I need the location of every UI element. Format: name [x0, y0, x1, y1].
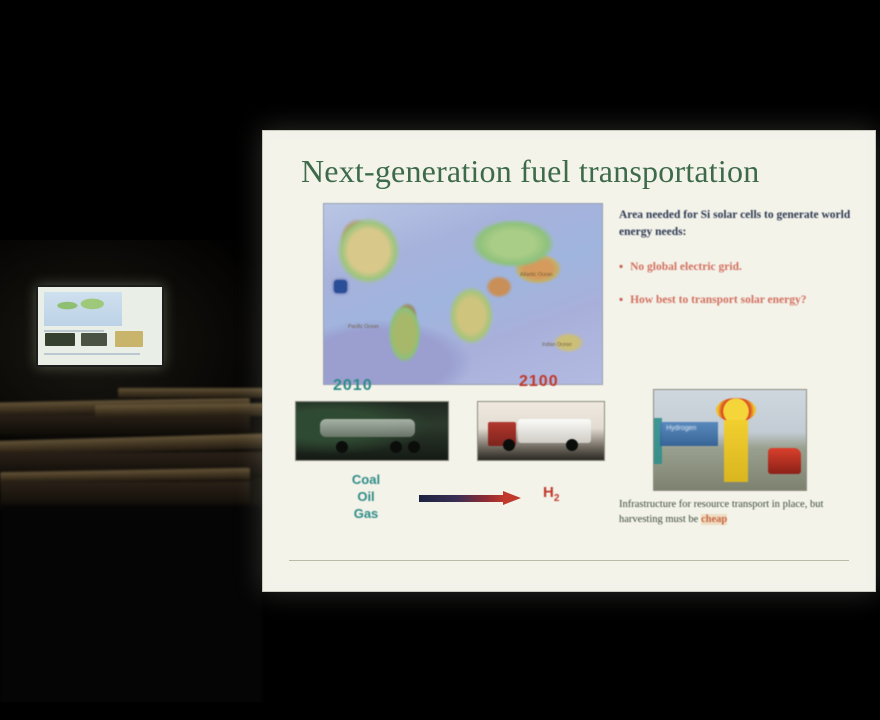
preview-monitor [36, 285, 164, 367]
slide-bullet: ▪ No global electric grid. [619, 259, 851, 276]
shell-logo-icon [716, 398, 756, 422]
projected-slide: Next-generation fuel transportation Paci… [262, 130, 876, 592]
photo-tanker-2010 [295, 401, 449, 461]
truck-wheel [566, 439, 578, 451]
tanker-wheel [390, 441, 402, 453]
slide-content: Next-generation fuel transportation Paci… [271, 139, 867, 583]
fuel-item-oil: Oil [329, 488, 403, 505]
hydrogen-symbol: H [543, 484, 554, 501]
fossil-fuels-list: Coal Oil Gas [329, 471, 403, 522]
slide-bullet-text: No global electric grid. [630, 259, 742, 276]
bullet-marker-icon: ▪ [619, 259, 623, 276]
slide-lead-text: Area needed for Si solar cells to genera… [619, 207, 851, 241]
monitor-mini-text-line [44, 353, 140, 355]
hall-floor [0, 505, 262, 705]
truck-trailer [518, 419, 591, 442]
arrow-head [503, 491, 521, 505]
slide-bullet-text: How best to transport solar energy? [630, 292, 806, 309]
station-caption: Infrastructure for resource transport in… [619, 497, 851, 527]
tanker-body [320, 419, 414, 436]
tanker-wheel [336, 441, 348, 453]
fuel-item-gas: Gas [329, 505, 403, 522]
hydrogen-target-label: H2 [543, 484, 559, 504]
letterbox-top [0, 0, 880, 18]
year-label-present: 2010 [333, 377, 373, 395]
transition-arrow-icon [419, 491, 539, 505]
bullet-marker-icon: ▪ [619, 292, 623, 309]
photo-hydrogen-station: Hydrogen [653, 389, 807, 491]
arrow-shaft [419, 495, 505, 502]
caption-highlight: cheap [701, 514, 727, 525]
slide-bottom-rule [293, 183, 845, 184]
map-label-indian: Indian Ocean [542, 342, 572, 348]
solar-area-marker [334, 280, 347, 293]
seat-row [95, 403, 275, 418]
tanker-wheel [408, 441, 420, 453]
monitor-mini-photo [115, 331, 143, 347]
caption-line-1: Infrastructure for resource transport in [619, 499, 780, 510]
photo-tanker-2100 [477, 401, 605, 461]
lecture-hall-scene: Next-generation fuel transportation Paci… [0, 0, 880, 720]
world-elevation-map: Pacific Ocean Atlantic Ocean Indian Ocea… [323, 203, 603, 385]
station-canopy-pole [724, 420, 748, 482]
hydrogen-sign: Hydrogen [660, 422, 718, 446]
slide-bullet: ▪ How best to transport solar energy? [619, 292, 851, 309]
fuel-item-coal: Coal [329, 471, 403, 488]
hydrogen-subscript: 2 [554, 493, 560, 504]
map-label-atlantic: Atlantic Ocean [520, 272, 553, 278]
monitor-mini-photo [45, 333, 75, 346]
monitor-mini-text-line [44, 330, 104, 332]
monitor-mini-photo [81, 333, 107, 346]
letterbox-bottom [0, 702, 880, 720]
slide-text-block: Area needed for Si solar cells to genera… [619, 207, 851, 325]
hydrogen-sign-text: Hydrogen [666, 425, 696, 432]
seat-row [118, 388, 268, 398]
slide-footer-rule [289, 560, 849, 561]
truck-wheel [503, 439, 515, 451]
monitor-mini-map [44, 292, 122, 326]
station-car [768, 448, 801, 474]
map-label-pacific: Pacific Ocean [348, 324, 379, 330]
year-label-future: 2100 [519, 373, 559, 391]
slide-title: Next-generation fuel transportation [301, 153, 861, 190]
